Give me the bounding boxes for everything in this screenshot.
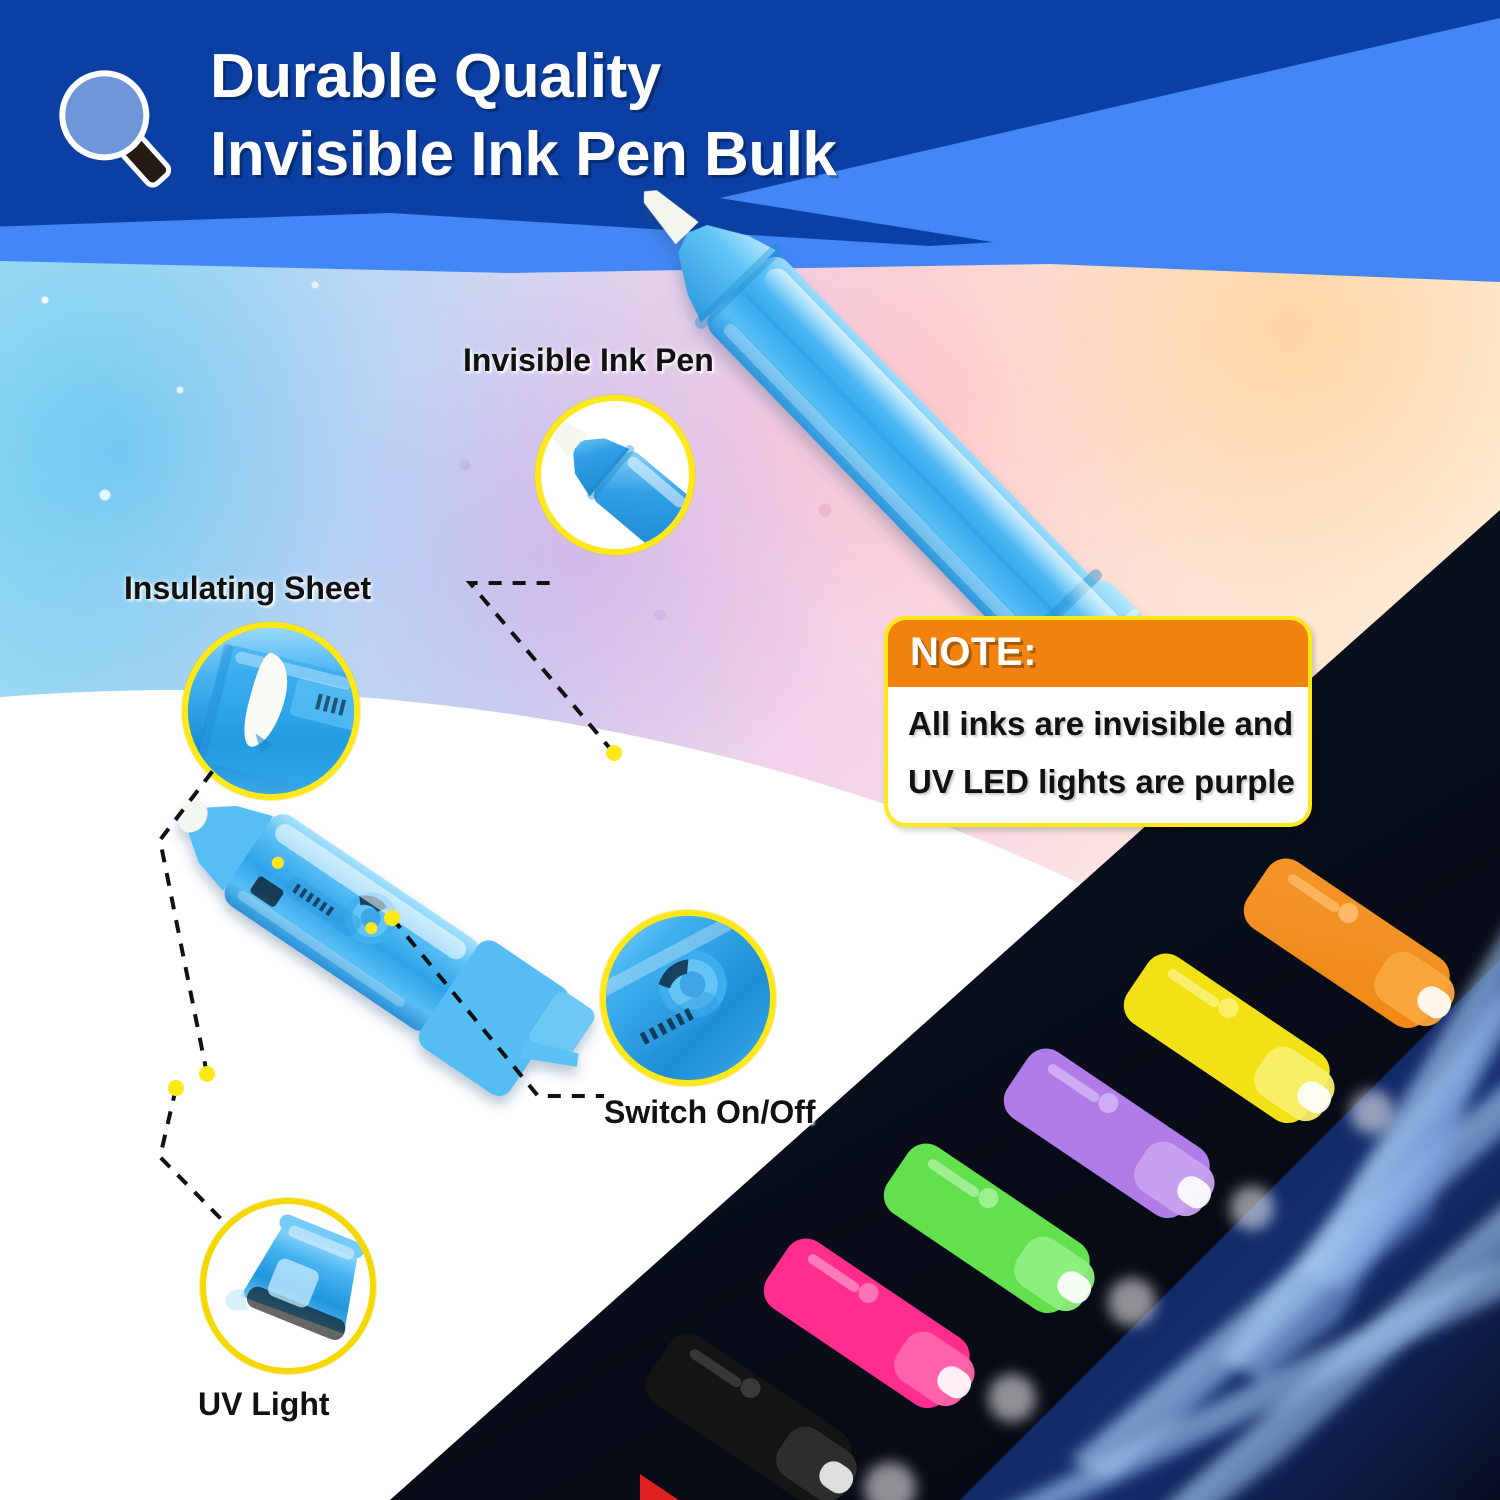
- callout-label-switch-on-off: Switch On/Off: [604, 1094, 816, 1131]
- note-card-header: NOTE:: [888, 620, 1308, 687]
- callout-switch-on-off[interactable]: [600, 910, 776, 1086]
- callout-invisible-ink-pen[interactable]: [535, 395, 695, 555]
- note-line-2: UV LED lights are purple: [908, 759, 1288, 805]
- note-line-1: All inks are invisible and: [908, 701, 1288, 747]
- title-line-1: Durable Quality: [210, 38, 1260, 116]
- callout-insulating-sheet[interactable]: [182, 622, 360, 800]
- callout-label-invisible-ink-pen: Invisible Ink Pen: [463, 342, 714, 379]
- callout-uv-light[interactable]: [200, 1198, 376, 1374]
- note-card: NOTE: All inks are invisible and UV LED …: [884, 616, 1312, 827]
- uv-light-cap-unit: [150, 740, 650, 1160]
- title-line-2: Invisible Ink Pen Bulk: [210, 116, 1260, 194]
- page-title: Durable Quality Invisible Ink Pen Bulk: [210, 38, 1260, 194]
- note-card-body: All inks are invisible and UV LED lights…: [888, 687, 1308, 823]
- magnifier-icon: [38, 50, 188, 200]
- infographic-canvas: Durable Quality Invisible Ink Pen Bulk I…: [0, 0, 1500, 1500]
- note-heading: NOTE:: [910, 630, 1037, 674]
- colored-pens-photo: [640, 820, 1500, 1500]
- callout-label-insulating-sheet: Insulating Sheet: [124, 570, 371, 607]
- callout-label-uv-light: UV Light: [198, 1386, 330, 1423]
